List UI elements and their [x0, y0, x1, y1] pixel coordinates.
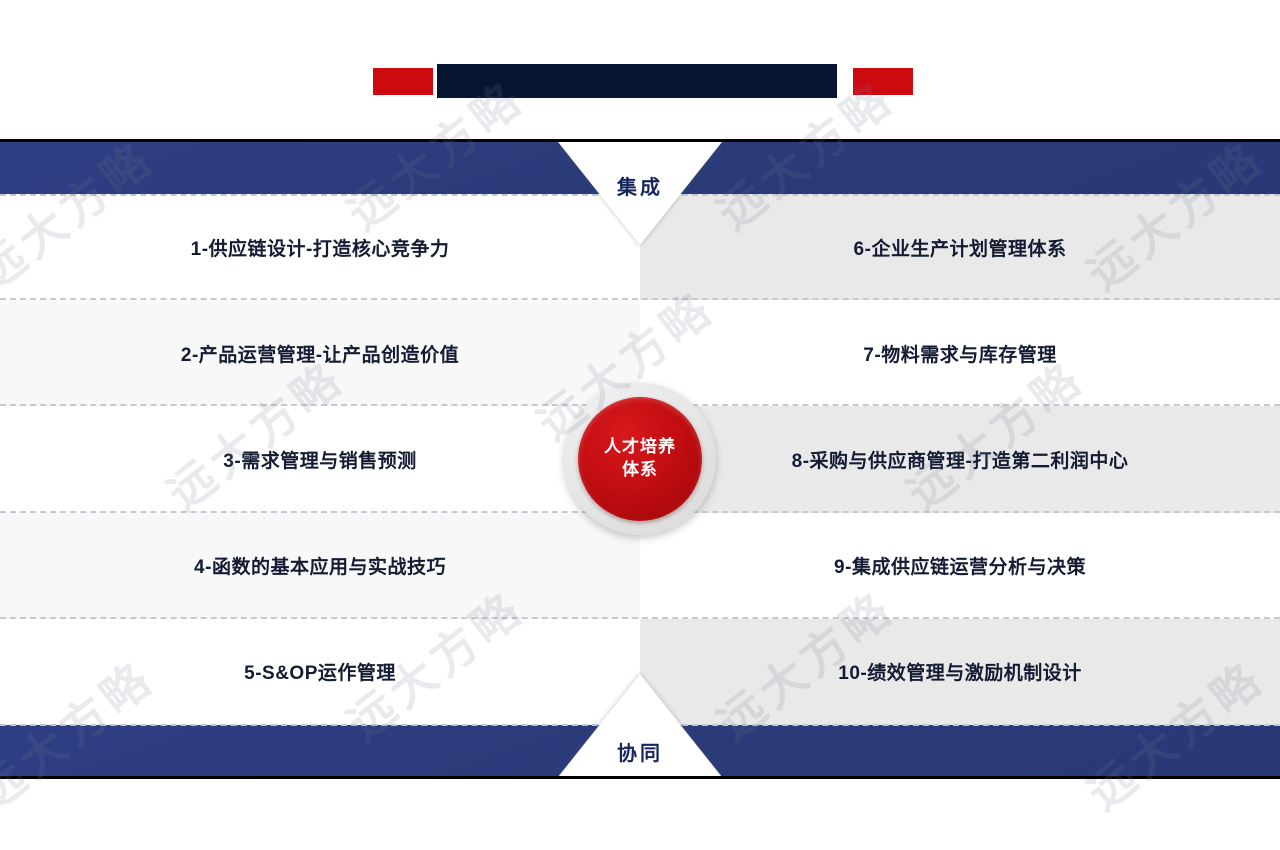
- course-label-4: 4-函数的基本应用与实战技巧: [194, 552, 446, 579]
- course-cell-6[interactable]: 6-企业生产计划管理体系: [640, 194, 1280, 300]
- course-cell-5[interactable]: 5-S&OP运作管理: [0, 619, 640, 725]
- center-hub-label: 人才培养 体系: [594, 436, 686, 482]
- top-rule: [0, 139, 1280, 142]
- process-diagram: 1-供应链设计-打造核心竞争力 6-企业生产计划管理体系 2-产品运营管理-让产…: [0, 139, 1280, 779]
- course-label-7: 7-物料需求与库存管理: [863, 340, 1056, 367]
- course-label-5: 5-S&OP运作管理: [244, 658, 396, 685]
- course-label-9: 9-集成供应链运营分析与决策: [834, 552, 1086, 579]
- title-area: ████████████████: [0, 0, 1280, 130]
- course-label-10: 10-绩效管理与激励机制设计: [838, 658, 1081, 685]
- course-cell-7[interactable]: 7-物料需求与库存管理: [640, 300, 1280, 406]
- banner-label-integration: 集成: [558, 171, 722, 200]
- course-cell-1[interactable]: 1-供应链设计-打造核心竞争力: [0, 194, 640, 300]
- course-label-3: 3-需求管理与销售预测: [223, 446, 416, 473]
- course-cell-9[interactable]: 9-集成供应链运营分析与决策: [640, 513, 1280, 619]
- course-label-1: 1-供应链设计-打造核心竞争力: [191, 234, 450, 261]
- title-accent-block-right: [853, 68, 913, 95]
- course-cell-8[interactable]: 8-采购与供应商管理-打造第二利润中心: [640, 406, 1280, 512]
- course-cell-10[interactable]: 10-绩效管理与激励机制设计: [640, 619, 1280, 725]
- course-cell-2[interactable]: 2-产品运营管理-让产品创造价值: [0, 300, 640, 406]
- row-dashed-divider: [0, 298, 1280, 300]
- row-dashed-divider: [0, 617, 1280, 619]
- banner-label-collaboration: 协同: [558, 737, 722, 766]
- center-hub-core: 人才培养 体系: [578, 397, 702, 521]
- bottom-rule: [0, 776, 1280, 779]
- page-title-text: ████████████████: [437, 64, 837, 98]
- course-label-8: 8-采购与供应商管理-打造第二利润中心: [792, 446, 1129, 473]
- course-cell-4[interactable]: 4-函数的基本应用与实战技巧: [0, 513, 640, 619]
- course-label-2: 2-产品运营管理-让产品创造价值: [181, 340, 459, 367]
- page-title-redacted: ████████████████: [437, 64, 837, 98]
- course-label-6: 6-企业生产计划管理体系: [854, 234, 1067, 261]
- center-hub[interactable]: 人才培养 体系: [564, 383, 716, 535]
- course-cell-3[interactable]: 3-需求管理与销售预测: [0, 406, 640, 512]
- title-accent-block-left: [373, 68, 433, 95]
